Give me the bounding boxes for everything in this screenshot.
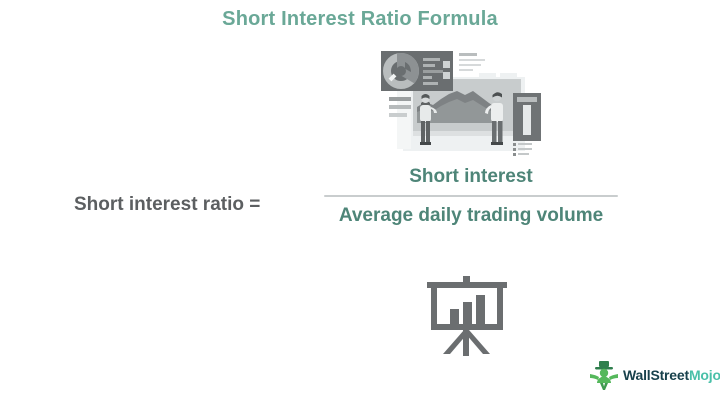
wallstreetmojo-logo[interactable]: WallStreetMojo <box>588 358 712 392</box>
logo-wordmark: WallStreetMojo <box>623 368 720 382</box>
fraction-bar <box>324 195 618 197</box>
formula-fraction: Short interest Average daily trading vol… <box>318 163 624 230</box>
formula-left-side: Short interest ratio = <box>74 194 260 216</box>
formula-denominator: Average daily trading volume <box>318 202 624 230</box>
logo-text-primary: WallStreet <box>623 367 689 383</box>
presentation-bar-chart-icon <box>419 276 515 356</box>
wallstreetmojo-mascot-icon <box>588 360 620 390</box>
image-canvas: Short Interest Ratio Formula <box>0 0 720 401</box>
page-title: Short Interest Ratio Formula <box>0 8 720 31</box>
data-dashboard-illustration <box>377 47 557 162</box>
formula-numerator: Short interest <box>318 163 624 191</box>
logo-text-secondary: Mojo <box>689 367 720 383</box>
